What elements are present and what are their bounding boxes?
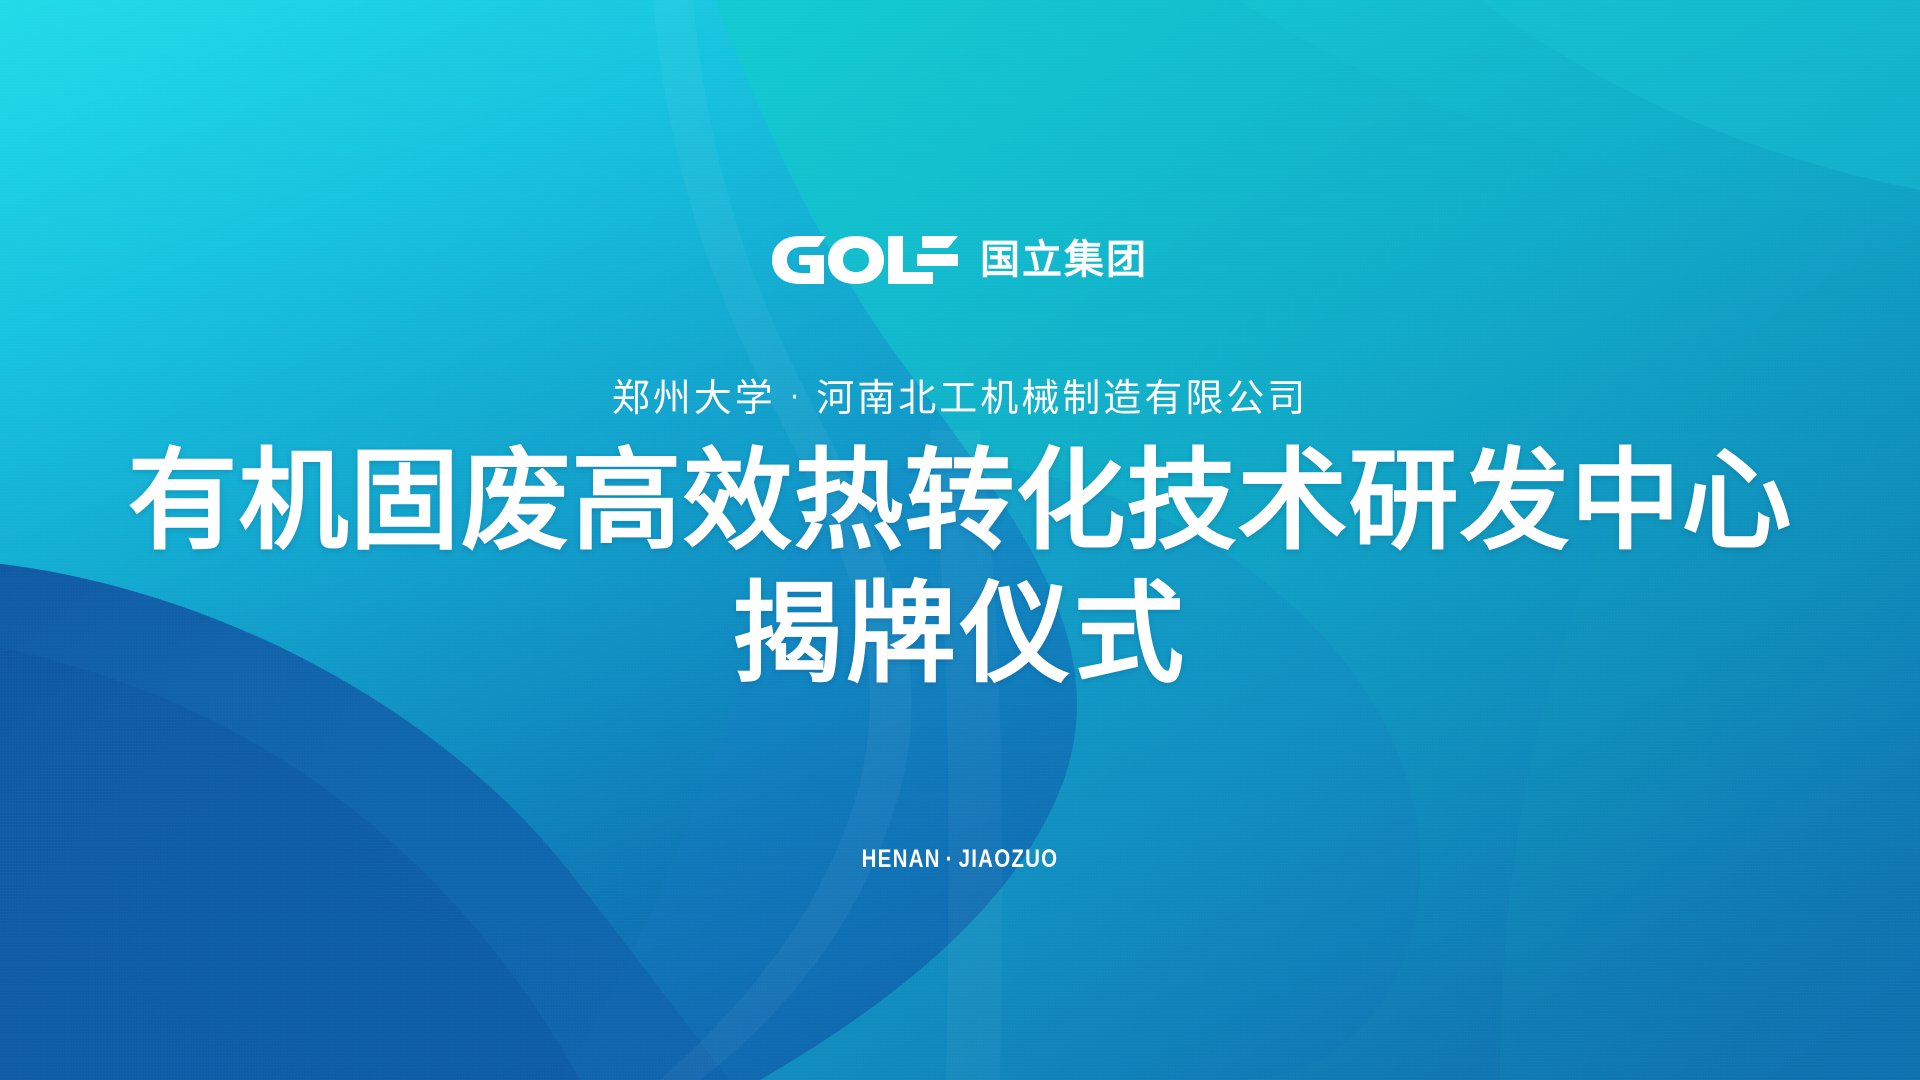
- brand-chinese-name: 国立集团: [980, 240, 1148, 280]
- slide-content: 国立集团 郑州大学·河南北工机械制造有限公司 有机固废高效热转化技术研发中心 揭…: [0, 0, 1920, 1080]
- organization-right: 河南北工机械制造有限公司: [816, 376, 1308, 420]
- organization-left: 郑州大学: [612, 376, 776, 420]
- location-line: HENAN·JIAOZUO: [173, 847, 1747, 872]
- main-title: 有机固废高效热转化技术研发中心 揭牌仪式: [0, 442, 1920, 696]
- presentation-slide: 国立集团 郑州大学·河南北工机械制造有限公司 有机固废高效热转化技术研发中心 揭…: [0, 0, 1920, 1080]
- location-separator: ·: [941, 845, 959, 873]
- organizations-line: 郑州大学·河南北工机械制造有限公司: [0, 376, 1920, 422]
- title-line-1: 有机固废高效热转化技术研发中心: [0, 442, 1920, 560]
- organization-separator: ·: [776, 380, 817, 415]
- gole-wordmark-icon: [772, 236, 958, 284]
- location-city: JIAOZUO: [959, 845, 1059, 873]
- location-province: HENAN: [862, 845, 941, 873]
- title-line-2: 揭牌仪式: [0, 572, 1920, 696]
- brand-logo-lockup: 国立集团: [0, 232, 1920, 288]
